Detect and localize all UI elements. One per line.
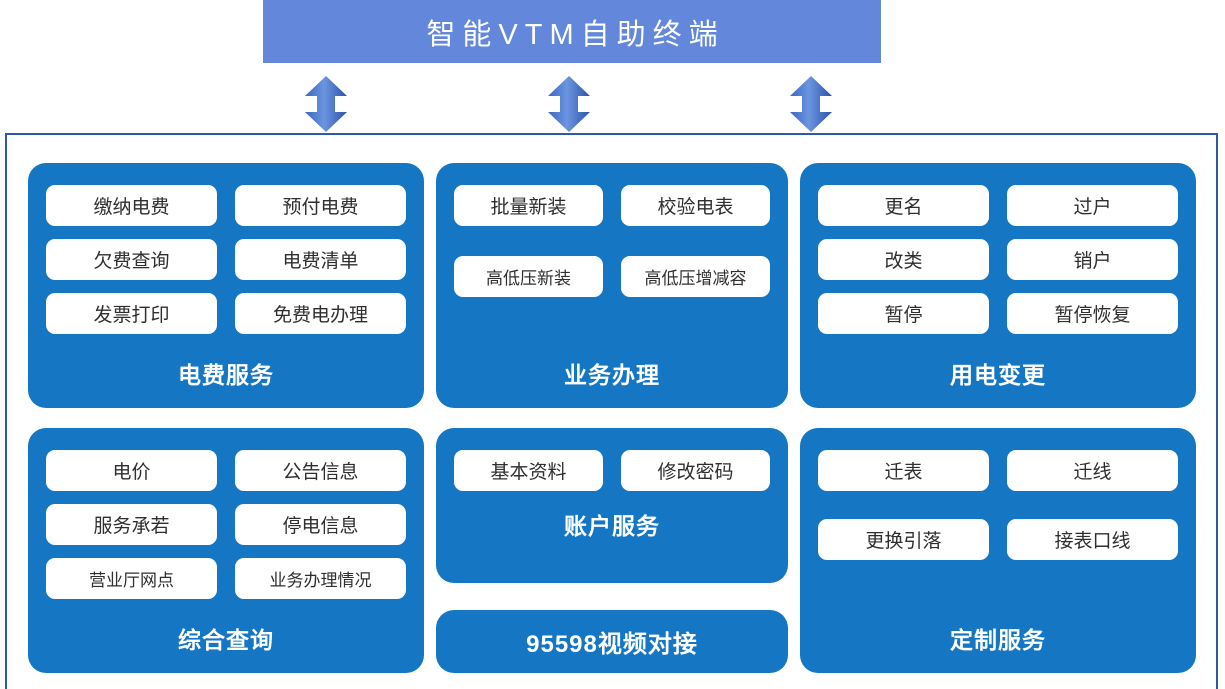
card-power-usage-change[interactable]: 更名 过户 改类 销户 暂停 暂停恢复 用电变更 — [800, 163, 1196, 408]
card-label: 业务办理 — [454, 356, 770, 398]
card-business-handling[interactable]: 批量新装 校验电表 高低压新装 高低压增减容 业务办理 — [436, 163, 788, 408]
card-label: 综合查询 — [46, 621, 406, 663]
card-item[interactable]: 销户 — [1007, 239, 1178, 280]
card-item[interactable]: 缴纳电费 — [46, 185, 217, 226]
card-custom-service[interactable]: 迁表 迁线 更换引落 接表口线 定制服务 — [800, 428, 1196, 673]
card-label: 用电变更 — [818, 356, 1178, 398]
card-item-list: 迁表 迁线 更换引落 接表口线 — [818, 450, 1178, 560]
card-item[interactable]: 批量新装 — [454, 185, 603, 226]
card-item[interactable]: 迁线 — [1007, 450, 1178, 491]
card-item[interactable]: 免费电办理 — [235, 293, 406, 334]
card-item[interactable]: 暂停 — [818, 293, 989, 334]
diagram-canvas: 智能VTM自助终端 缴纳电费 — [0, 0, 1225, 689]
card-item[interactable]: 改类 — [818, 239, 989, 280]
card-account-service[interactable]: 基本资料 修改密码 账户服务 — [436, 428, 788, 583]
bar-label: 95598视频对接 — [526, 624, 698, 659]
card-item[interactable]: 迁表 — [818, 450, 989, 491]
card-label: 电费服务 — [46, 356, 406, 398]
double-arrow-left-icon — [305, 76, 347, 132]
card-item[interactable]: 业务办理情况 — [235, 558, 406, 599]
function-card-grid: 缴纳电费 预付电费 欠费查询 电费清单 发票打印 免费电办理 电费服务 批量新装… — [28, 163, 1196, 673]
card-item[interactable]: 更换引落 — [818, 519, 989, 560]
card-item[interactable]: 电费清单 — [235, 239, 406, 280]
card-item[interactable]: 接表口线 — [1007, 519, 1178, 560]
card-item[interactable]: 校验电表 — [621, 185, 770, 226]
card-item[interactable]: 修改密码 — [621, 450, 770, 491]
card-item[interactable]: 高低压新装 — [454, 256, 603, 297]
double-arrow-center-icon — [548, 76, 590, 132]
card-item-list: 电价 公告信息 服务承若 停电信息 营业厅网点 业务办理情况 — [46, 450, 406, 599]
card-item[interactable]: 高低压增减容 — [621, 256, 770, 297]
card-label: 账户服务 — [454, 507, 770, 541]
card-item[interactable]: 预付电费 — [235, 185, 406, 226]
card-item-list: 缴纳电费 预付电费 欠费查询 电费清单 发票打印 免费电办理 — [46, 185, 406, 334]
card-label: 定制服务 — [818, 621, 1178, 663]
card-item[interactable]: 更名 — [818, 185, 989, 226]
account-service-column: 基本资料 修改密码 账户服务 95598视频对接 — [436, 428, 788, 673]
card-item[interactable]: 发票打印 — [46, 293, 217, 334]
card-item[interactable]: 欠费查询 — [46, 239, 217, 280]
card-item[interactable]: 暂停恢复 — [1007, 293, 1178, 334]
card-electricity-fee-service[interactable]: 缴纳电费 预付电费 欠费查询 电费清单 发票打印 免费电办理 电费服务 — [28, 163, 424, 408]
bar-video-connect-95598[interactable]: 95598视频对接 — [436, 610, 788, 673]
card-item[interactable]: 营业厅网点 — [46, 558, 217, 599]
card-item-list: 批量新装 校验电表 高低压新装 高低压增减容 — [454, 185, 770, 297]
card-comprehensive-query[interactable]: 电价 公告信息 服务承若 停电信息 营业厅网点 业务办理情况 综合查询 — [28, 428, 424, 673]
card-item-list: 基本资料 修改密码 — [454, 450, 770, 491]
card-item[interactable]: 公告信息 — [235, 450, 406, 491]
card-item[interactable]: 基本资料 — [454, 450, 603, 491]
card-item[interactable]: 过户 — [1007, 185, 1178, 226]
page-title-banner: 智能VTM自助终端 — [263, 0, 881, 63]
card-item[interactable]: 电价 — [46, 450, 217, 491]
double-arrow-right-icon — [790, 76, 832, 132]
card-item[interactable]: 停电信息 — [235, 504, 406, 545]
page-title: 智能VTM自助终端 — [419, 11, 724, 53]
card-item[interactable]: 服务承若 — [46, 504, 217, 545]
card-item-list: 更名 过户 改类 销户 暂停 暂停恢复 — [818, 185, 1178, 334]
